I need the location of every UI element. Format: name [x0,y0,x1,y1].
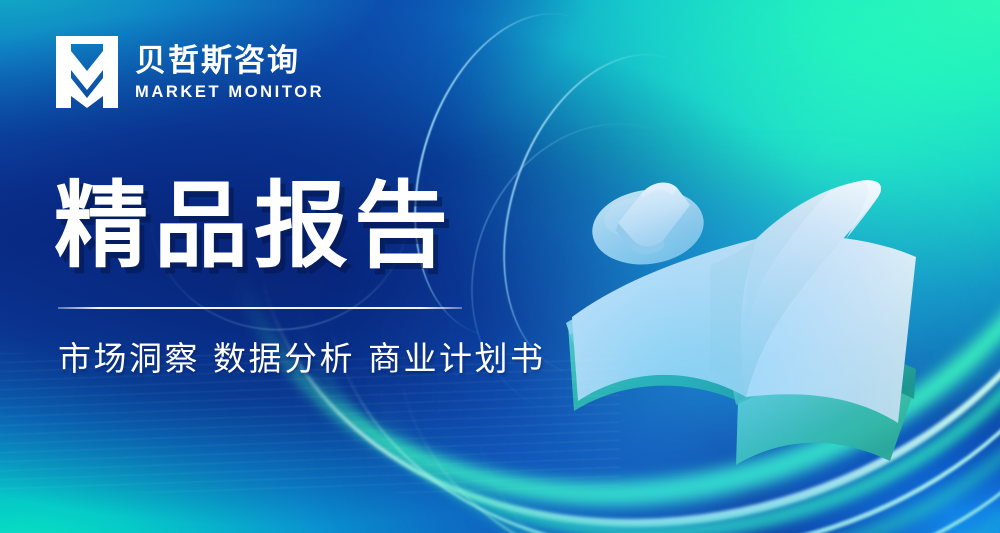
brand-name-en: MARKET MONITOR [135,84,324,101]
brand-name-cn: 贝哲斯咨询 [135,46,324,77]
market-monitor-m-mark-icon [56,36,118,108]
page-title: 精品报告 [54,176,454,278]
promo-banner: 贝哲斯咨询 MARKET MONITOR 精品报告 市场洞察 数据分析 商业计划… [0,0,1000,533]
brand-text-block: 贝哲斯咨询 MARKET MONITOR [135,44,324,101]
title-divider [58,307,462,309]
page-subtitle: 市场洞察 数据分析 商业计划书 [58,332,545,380]
brand-logo[interactable]: 贝哲斯咨询 MARKET MONITOR [56,36,324,108]
